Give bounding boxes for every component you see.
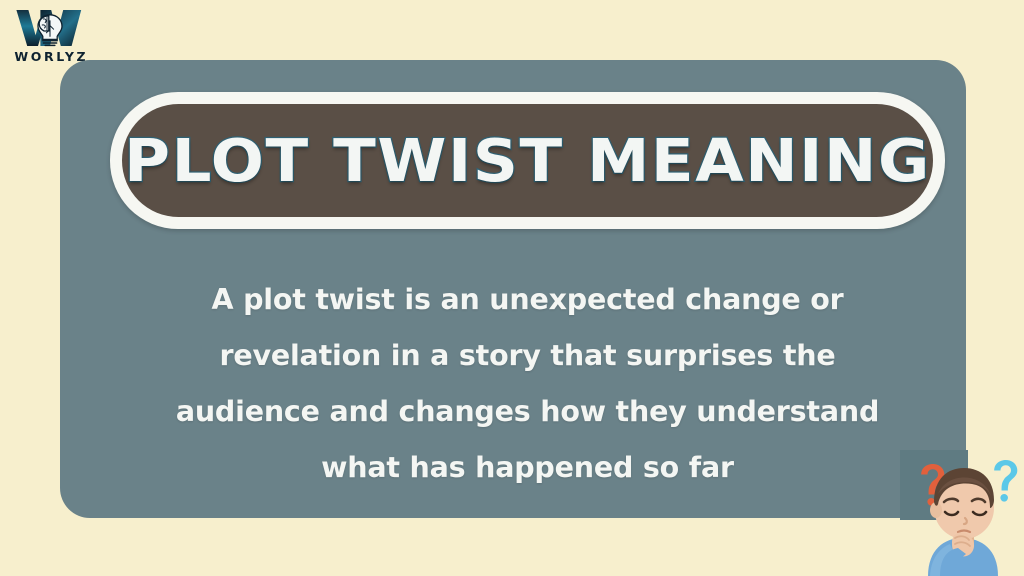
- title-banner-inner: PLOT TWIST MEANING: [122, 104, 933, 217]
- brand-logo[interactable]: WORLYZ: [8, 6, 92, 64]
- definition-line: revelation in a story that surprises the: [110, 328, 945, 384]
- page-title: PLOT TWIST MEANING: [124, 131, 931, 190]
- thinking-person-icon: [900, 450, 1024, 576]
- brain-lightbulb-w-logo-icon: [14, 6, 86, 50]
- definition-line: what has happened so far: [110, 440, 945, 496]
- definition-line: A plot twist is an unexpected change or: [110, 272, 945, 328]
- brand-name: WORLYZ: [12, 51, 88, 64]
- title-banner: PLOT TWIST MEANING: [110, 92, 945, 229]
- definition-text: A plot twist is an unexpected change or …: [110, 272, 945, 496]
- definition-line: audience and changes how they understand: [110, 384, 945, 440]
- thinking-person-illustration: [900, 450, 1024, 576]
